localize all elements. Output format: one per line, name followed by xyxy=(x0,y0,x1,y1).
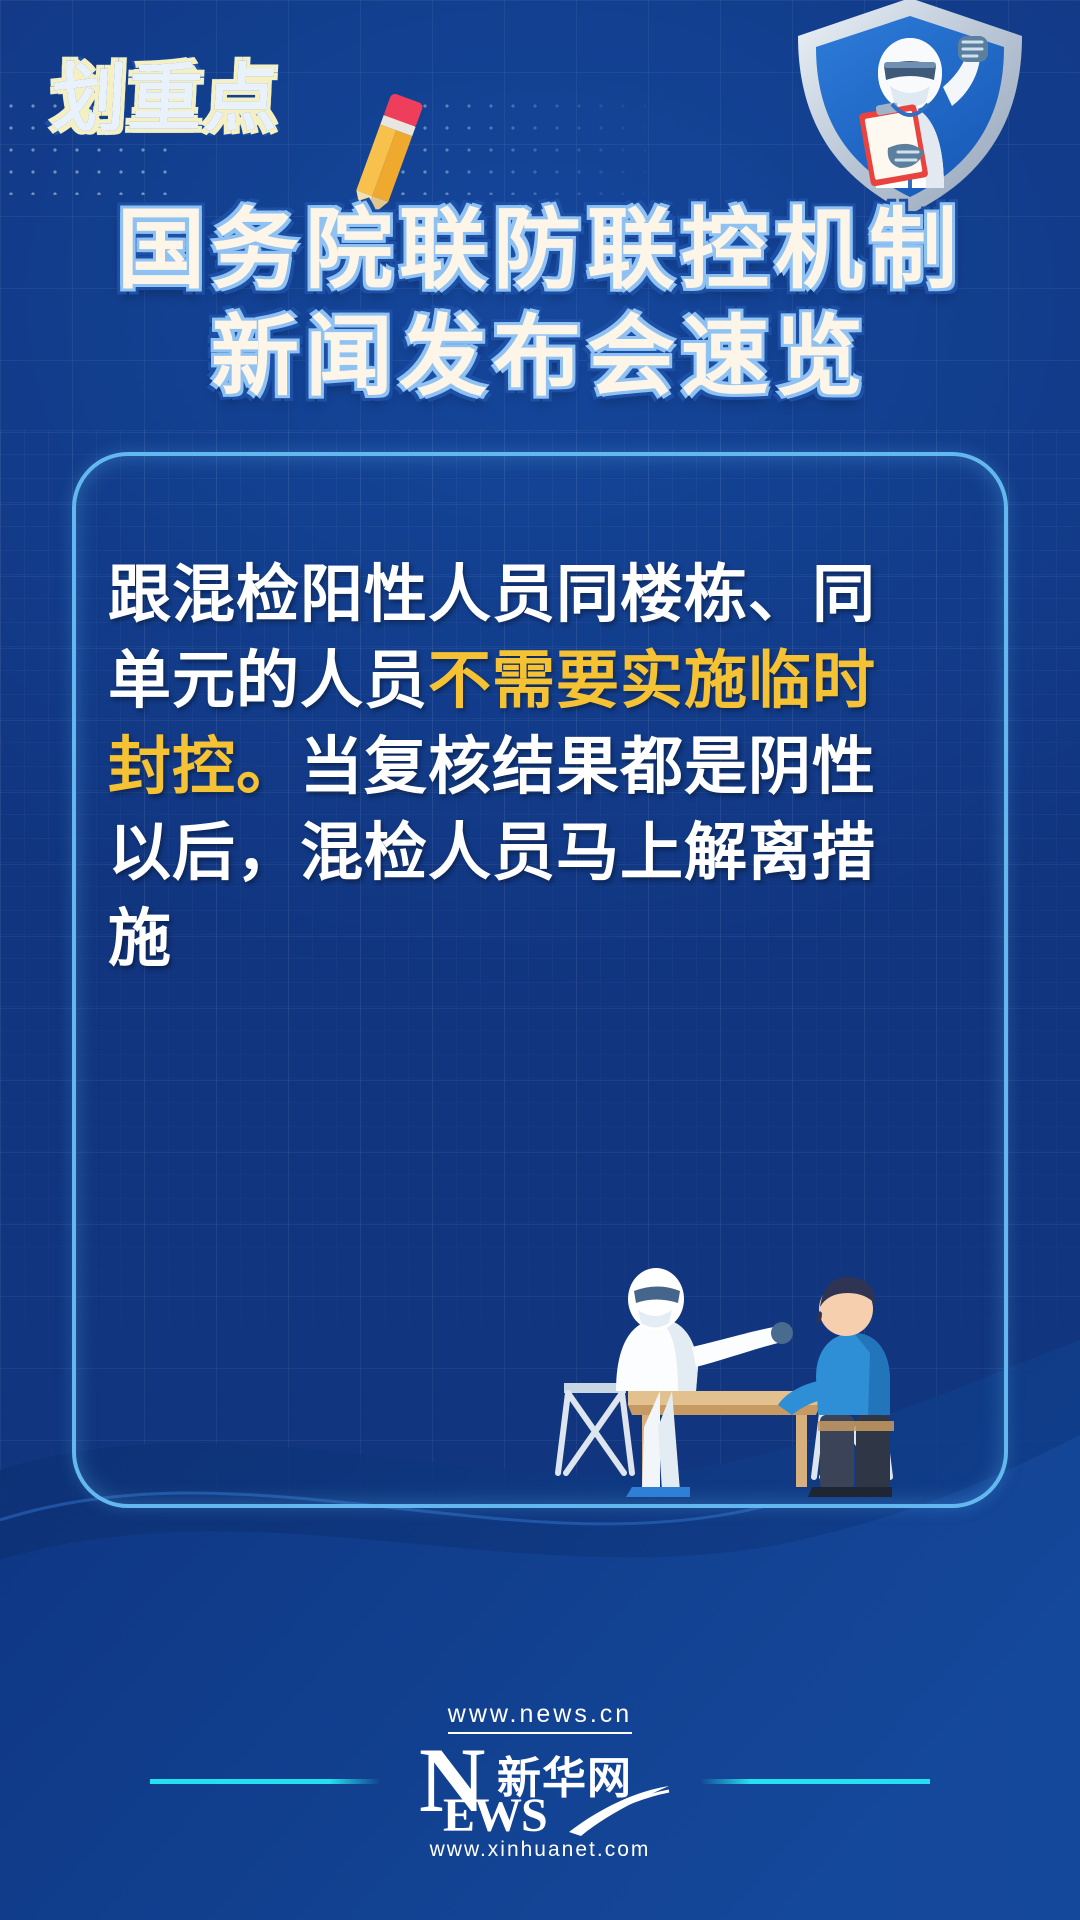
logo-word-news: EWS xyxy=(443,1788,547,1843)
divider-right xyxy=(700,1779,930,1784)
divider-left xyxy=(150,1779,380,1784)
swoosh-icon xyxy=(565,1782,673,1838)
footer-logo-bar: www.news.cn N 新华网 EWS www.xinhuanet.com xyxy=(0,1700,1080,1862)
highlight-badge-label: 划重点 xyxy=(50,62,282,136)
xinhua-logo: www.news.cn N 新华网 EWS www.xinhuanet.com xyxy=(390,1700,690,1862)
logo-mark: N 新华网 EWS xyxy=(405,1738,675,1834)
nucleic-acid-testing-scene-icon xyxy=(520,1215,950,1515)
body-statement: 跟混检阳性人员同楼栋、同单元的人员不需要实施临时封控。当复核结果都是阴性以后，混… xyxy=(108,552,898,982)
highlight-badge: 划重点 xyxy=(52,62,280,136)
page-title-line-1: 国务院联防联控机制 xyxy=(0,196,1080,303)
page-title-line-2: 新闻发布会速览 xyxy=(0,303,1080,410)
shield-medical-worker-icon xyxy=(780,0,1040,222)
page-title: 国务院联防联控机制 新闻发布会速览 xyxy=(0,196,1080,411)
poster-canvas: 划重点 xyxy=(0,0,1080,1920)
